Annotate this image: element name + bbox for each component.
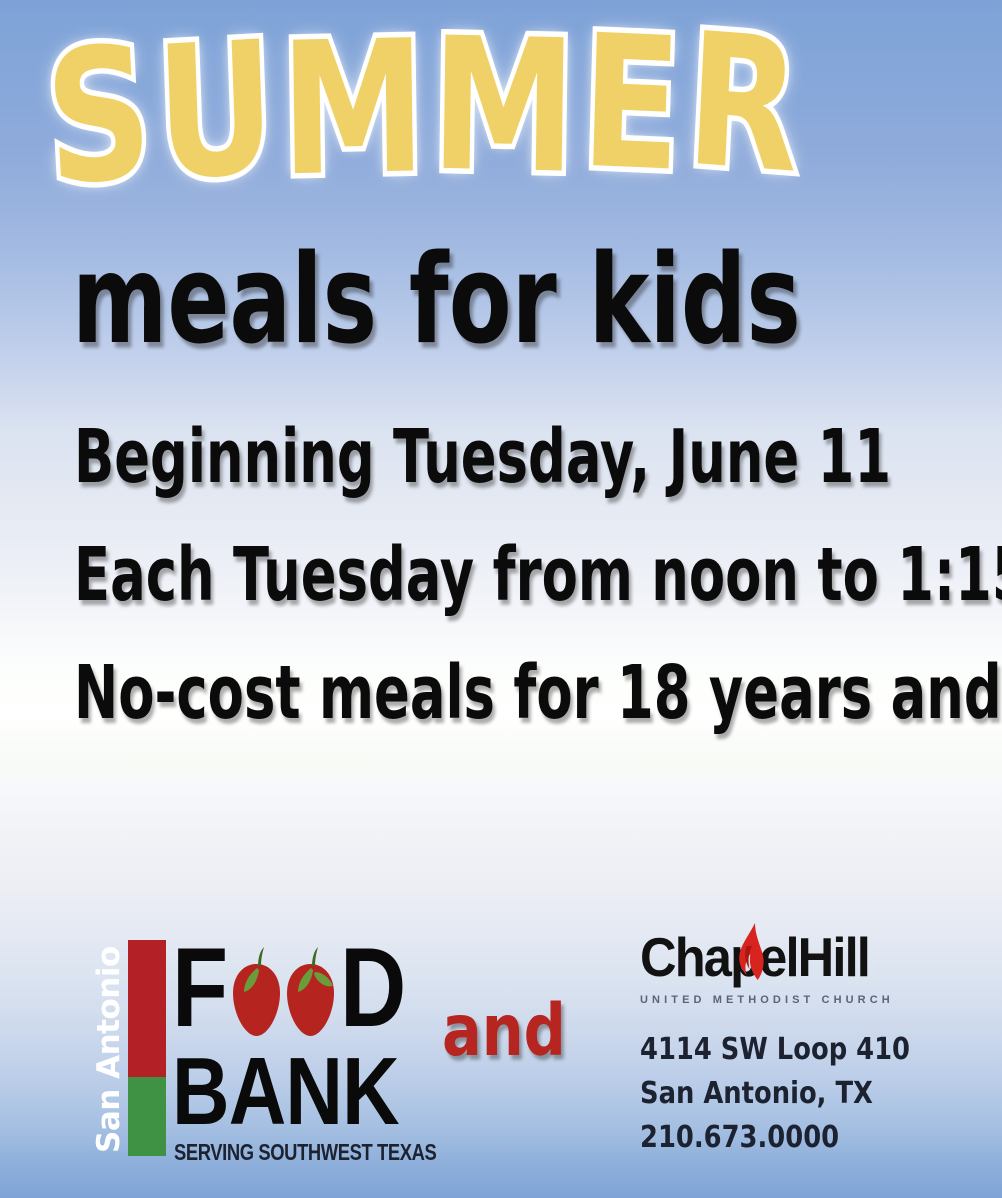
page-title: meals for kids xyxy=(72,238,801,361)
flame-cross-icon xyxy=(736,922,767,988)
address-phone: 210.673.0000 xyxy=(640,1116,898,1160)
summer-letter-6: R xyxy=(683,9,810,201)
san-antonio-vertical-text: San Antonio xyxy=(90,940,128,1156)
chapel-hill-wordmark: ChapelHill xyxy=(640,928,916,990)
san-antonio-food-bank-logo: San Antonio F D xyxy=(128,934,398,1174)
apple-icon xyxy=(230,946,283,1038)
food-letter-f: F xyxy=(172,934,228,1042)
chapel-hill-umc-logo: ChapelHill UNITED METHODIST CHURCH 4114 … xyxy=(640,928,940,1160)
summer-letter-4: M xyxy=(430,14,583,200)
sponsor-logo-row: San Antonio F D xyxy=(0,920,1002,1185)
conjunction-and: and xyxy=(442,995,566,1066)
detail-line-schedule: Each Tuesday from noon to 1:15pm xyxy=(74,538,1002,612)
food-bank-wordmark: F D BANK xyxy=(172,934,398,1136)
vertical-bar-green-segment xyxy=(128,1077,166,1156)
summer-letter-5: E xyxy=(579,11,689,199)
detail-line-eligibility: No-cost meals for 18 years and under xyxy=(74,656,1002,730)
vertical-bar-red-segment xyxy=(128,940,166,1077)
bank-word: BANK xyxy=(172,1048,360,1136)
food-word-row: F D xyxy=(172,934,398,1046)
apple-icon xyxy=(284,946,337,1038)
food-letter-d: D xyxy=(340,934,406,1042)
summer-letter-3: M xyxy=(279,16,432,202)
summer-wordmark: SUMMER xyxy=(46,18,805,201)
chapel-word: Chapel xyxy=(640,926,798,988)
detail-line-start-date: Beginning Tuesday, June 11 xyxy=(74,420,891,494)
hill-word: Hill xyxy=(798,926,869,988)
chapel-hill-address-block: 4114 SW Loop 410 San Antonio, TX 210.673… xyxy=(640,1028,898,1160)
san-antonio-vertical-bar: San Antonio xyxy=(128,940,166,1156)
address-street: 4114 SW Loop 410 xyxy=(640,1028,898,1072)
chapel-hill-subtitle: UNITED METHODIST CHURCH xyxy=(640,994,940,1006)
address-city-state: San Antonio, TX xyxy=(640,1072,898,1116)
flyer-canvas: SUMMER meals for kids Beginning Tuesday,… xyxy=(0,0,1002,1198)
food-bank-tagline: SERVING SOUTHWEST TEXAS xyxy=(174,1140,436,1164)
summer-letter-2: U xyxy=(154,17,284,207)
summer-letter-1: S xyxy=(41,21,162,213)
